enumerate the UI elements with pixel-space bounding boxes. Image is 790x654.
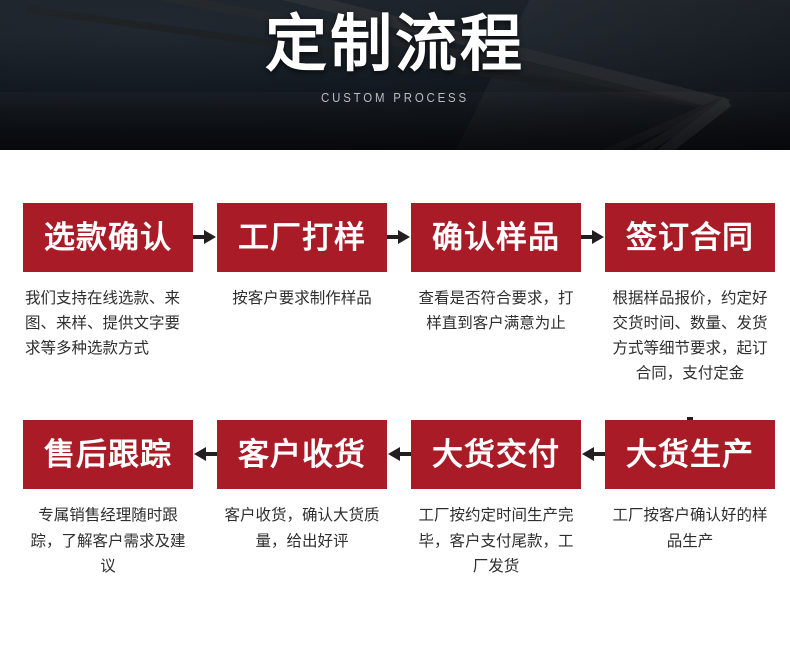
page-subtitle: CUSTOM PROCESS — [47, 90, 742, 105]
process-row-2: 售后跟踪 专属销售经理随时跟踪，了解客户需求及建议 客户收货 客户收货，确认大货… — [0, 420, 790, 578]
arrow-right-icon — [193, 228, 217, 246]
process-step-7[interactable]: 大货交付 工厂按约定时间生产完毕，客户支付尾款，工厂发货 — [411, 420, 581, 578]
step-5-title: 售后跟踪 — [44, 439, 172, 470]
process-step-2[interactable]: 工厂打样 按客户要求制作样品 — [217, 203, 387, 311]
step-8-description: 工厂按客户确认好的样品生产 — [605, 503, 775, 553]
process-step-5[interactable]: 售后跟踪 专属销售经理随时跟踪，了解客户需求及建议 — [23, 420, 193, 578]
step-7-title: 大货交付 — [432, 439, 560, 470]
step-4-box[interactable]: 签订合同 — [605, 203, 775, 272]
step-2-box[interactable]: 工厂打样 — [217, 203, 387, 272]
step-6-title: 客户收货 — [238, 439, 366, 470]
step-3-box[interactable]: 确认样品 — [411, 203, 581, 272]
page-title: 定制流程 — [0, 14, 790, 76]
step-7-description: 工厂按约定时间生产完毕，客户支付尾款，工厂发货 — [411, 503, 581, 578]
step-5-box[interactable]: 售后跟踪 — [23, 420, 193, 489]
step-4-description: 根据样品报价，约定好交货时间、数量、发货方式等细节要求，起订合同，支付定金 — [605, 286, 775, 386]
step-5-description: 专属销售经理随时跟踪，了解客户需求及建议 — [23, 503, 193, 578]
step-1-box[interactable]: 选款确认 — [23, 203, 193, 272]
process-step-1[interactable]: 选款确认 我们支持在线选款、来图、来样、提供文字要求等多种选款方式 — [23, 203, 193, 361]
process-step-6[interactable]: 客户收货 客户收货，确认大货质量，给出好评 — [217, 420, 387, 553]
step-8-box[interactable]: 大货生产 — [605, 420, 775, 489]
process-step-3[interactable]: 确认样品 查看是否符合要求，打样直到客户满意为止 — [411, 203, 581, 336]
arrow-left-icon — [193, 445, 217, 463]
step-2-title: 工厂打样 — [238, 222, 366, 253]
step-1-description: 我们支持在线选款、来图、来样、提供文字要求等多种选款方式 — [23, 286, 193, 361]
step-3-title: 确认样品 — [432, 222, 560, 253]
process-step-4[interactable]: 签订合同 根据样品报价，约定好交货时间、数量、发货方式等细节要求，起订合同，支付… — [605, 203, 775, 386]
step-7-box[interactable]: 大货交付 — [411, 420, 581, 489]
step-4-title: 签订合同 — [626, 222, 754, 253]
step-1-title: 选款确认 — [44, 222, 172, 253]
step-6-box[interactable]: 客户收货 — [217, 420, 387, 489]
arrow-left-icon — [581, 445, 605, 463]
step-2-description: 按客户要求制作样品 — [217, 286, 387, 311]
step-8-title: 大货生产 — [626, 439, 754, 470]
arrow-left-icon — [387, 445, 411, 463]
process-step-8[interactable]: 大货生产 工厂按客户确认好的样品生产 — [605, 420, 775, 553]
banner-text-group: 定制流程 CUSTOM PROCESS — [0, 14, 790, 105]
arrow-right-icon — [387, 228, 411, 246]
step-3-description: 查看是否符合要求，打样直到客户满意为止 — [411, 286, 581, 336]
process-row-1: 选款确认 我们支持在线选款、来图、来样、提供文字要求等多种选款方式 工厂打样 按… — [0, 203, 790, 386]
arrow-right-icon — [581, 228, 605, 246]
process-flow: 选款确认 我们支持在线选款、来图、来样、提供文字要求等多种选款方式 工厂打样 按… — [0, 203, 790, 579]
step-6-description: 客户收货，确认大货质量，给出好评 — [217, 503, 387, 553]
page-banner: 定制流程 CUSTOM PROCESS — [0, 0, 790, 150]
